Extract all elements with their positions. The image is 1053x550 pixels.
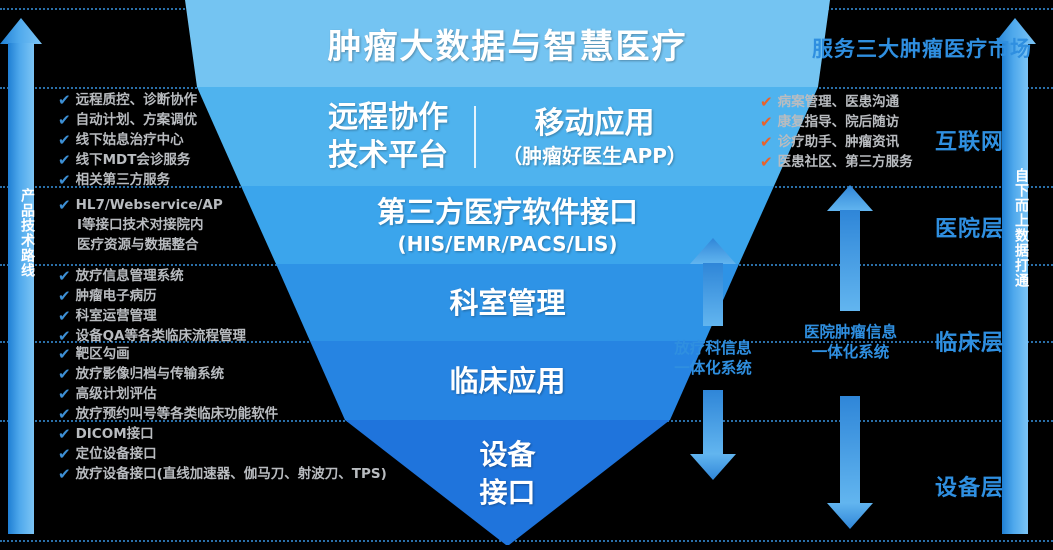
arrow-head-down-icon [827,503,873,529]
bullet-group-hospital: ✔HL7/Webservice/AP I等接口技术对接院内 医疗资源与数据整合 [58,196,223,256]
list-item-text: 康复指导、院后随访 [778,113,900,132]
list-item-text: 科室运营管理 [76,307,157,326]
mobile-app-line1: 移动应用 [534,106,654,141]
third-party-interface-label: 第三方医疗软件接口 (HIS/EMR/PACS/LIS) [377,193,638,257]
bullet-group-internet: ✔远程质控、诊断协作 ✔自动计划、方案调优 ✔线下姑息治疗中心 ✔线下MDT会诊… [58,91,197,191]
list-item-text: 放疗影像归档与传输系统 [76,365,225,384]
check-icon: ✔ [58,151,71,169]
list-item-text: 病案管理、医患沟通 [778,93,900,112]
list-item: ✔放疗影像归档与传输系统 [58,365,278,384]
list-item-text: 线下MDT会诊服务 [76,151,191,170]
vertical-divider [474,106,476,168]
list-item-text: 医患社区、第三方服务 [778,153,913,172]
list-item-text: 放疗信息管理系统 [76,267,184,286]
arrow-head-down-icon [690,454,736,480]
collab-platform-label: 远程协作 技术平台 [328,99,448,175]
list-item-text: 自动计划、方案调优 [76,111,198,130]
list-item-text: 相关第三方服务 [76,171,171,190]
list-item-text: HL7/Webservice/AP [76,196,223,215]
arrow-shaft-upper [840,210,860,311]
device-line2: 接口 [479,476,535,509]
list-item: ✔远程质控、诊断协作 [58,91,197,110]
list-item: ✔放疗预约叫号等各类临床功能软件 [58,405,278,424]
list-item-text: 放疗设备接口(直线加速器、伽马刀、射波刀、TPS) [76,465,387,484]
list-item: ✔诊疗助手、肿瘤资讯 [760,133,913,152]
list-item: ✔靶区勾画 [58,345,278,364]
bullet-group-device: ✔DICOM接口 ✔定位设备接口 ✔放疗设备接口(直线加速器、伽马刀、射波刀、T… [58,425,387,485]
list-item: ✔定位设备接口 [58,445,387,464]
tier-label-hospital: 医院层 [935,211,1004,243]
arrow-head-up-icon [690,238,736,264]
list-item: ✔相关第三方服务 [58,171,197,190]
check-icon: ✔ [58,385,71,403]
interface-line1: 第三方医疗软件接口 [377,195,638,229]
list-item: ✔高级计划评估 [58,385,278,404]
list-item-text: 肿瘤电子病历 [76,287,157,306]
check-icon: ✔ [760,93,773,111]
check-icon: ✔ [58,405,71,423]
list-item-text: 靶区勾画 [76,345,130,364]
list-item: ✔设备QA等各类临床流程管理 [58,327,246,346]
department-mgmt-label: 科室管理 [449,284,565,322]
arrow-shaft-upper [703,263,723,326]
list-item: ✔放疗设备接口(直线加速器、伽马刀、射波刀、TPS) [58,465,387,484]
device-line1: 设备 [479,438,535,471]
list-item-text: DICOM接口 [76,425,154,444]
left-band-label: 产品技术路线 [8,188,34,278]
right-band-label: 自下而上数据打通 [1002,168,1028,288]
left-arrow-shaft [8,43,34,534]
collab-line1: 远程协作 [328,100,448,135]
list-item: ✔康复指导、院后随访 [760,113,913,132]
list-item-text: 线下姑息治疗中心 [76,131,184,150]
tier-label-internet: 互联网 [935,124,1004,156]
pyramid-band-title: 肿瘤大数据与智慧医疗 [185,0,830,87]
arrow-radiotherapy-caption: 放疗科信息 一体化系统 [645,338,781,378]
list-item: ✔线下MDT会诊服务 [58,151,197,170]
check-icon: ✔ [58,465,71,483]
list-item-continuation: 医疗资源与数据整合 [58,236,223,255]
mobile-app-label: 移动应用 （肿瘤好医生APP） [502,105,687,169]
arrow-head-up-icon [827,185,873,211]
list-item-text: 放疗预约叫号等各类临床功能软件 [76,405,279,424]
list-item: ✔医患社区、第三方服务 [760,153,913,172]
device-interface-label: 设备 接口 [479,436,535,512]
list-item-text: 远程质控、诊断协作 [76,91,198,110]
list-item-text: 医疗资源与数据整合 [77,236,199,255]
list-item: ✔科室运营管理 [58,307,246,326]
check-icon: ✔ [58,131,71,149]
list-item: ✔线下姑息治疗中心 [58,131,197,150]
interface-line2: (HIS/EMR/PACS/LIS) [397,232,617,256]
caption-line2: 一体化系统 [812,343,890,361]
check-icon: ✔ [760,153,773,171]
header-right-title: 服务三大肿瘤医疗市场 [812,33,1032,63]
list-item: ✔病案管理、医患沟通 [760,93,913,112]
check-icon: ✔ [58,425,71,443]
caption-line1: 放疗科信息 [674,339,752,357]
left-arrow-band: 产品技术路线 [8,18,34,534]
right-arrow-shaft [1002,43,1028,534]
list-item-text: I等接口技术对接院内 [77,216,204,235]
list-item: ✔DICOM接口 [58,425,387,444]
collab-line2: 技术平台 [328,138,448,173]
bullet-group-clinical: ✔靶区勾画 ✔放疗影像归档与传输系统 ✔高级计划评估 ✔放疗预约叫号等各类临床功… [58,345,278,425]
left-arrow-head-icon [0,18,42,44]
mobile-app-line2: （肿瘤好医生APP） [502,144,687,168]
check-icon: ✔ [58,111,71,129]
clinical-app-label: 临床应用 [449,362,565,400]
check-icon: ✔ [58,327,71,345]
list-item-continuation: I等接口技术对接院内 [58,216,223,235]
list-item: ✔放疗信息管理系统 [58,267,246,286]
check-icon: ✔ [58,307,71,325]
caption-line2: 一体化系统 [674,359,752,377]
infographic-canvas: 肿瘤大数据与智慧医疗 远程协作 技术平台 移动应用 （肿瘤好医生APP） 第三方… [0,0,1053,550]
list-item-text: 高级计划评估 [76,385,157,404]
check-icon: ✔ [58,196,71,214]
tier-label-clinical: 临床层 [935,325,1004,357]
bullet-group-department: ✔放疗信息管理系统 ✔肿瘤电子病历 ✔科室运营管理 ✔设备QA等各类临床流程管理 [58,267,246,347]
check-icon: ✔ [58,91,71,109]
list-item: ✔肿瘤电子病历 [58,287,246,306]
check-icon: ✔ [760,133,773,151]
list-item-text: 定位设备接口 [76,445,157,464]
bullet-group-internet-right: ✔病案管理、医患沟通 ✔康复指导、院后随访 ✔诊疗助手、肿瘤资讯 ✔医患社区、第… [760,93,913,173]
check-icon: ✔ [58,445,71,463]
check-icon: ✔ [58,345,71,363]
arrow-hospital-oncology-caption: 医院肿瘤信息 一体化系统 [778,322,923,362]
caption-line1: 医院肿瘤信息 [804,323,897,341]
list-item: ✔自动计划、方案调优 [58,111,197,130]
check-icon: ✔ [58,267,71,285]
list-item-text: 设备QA等各类临床流程管理 [76,327,246,346]
page-title: 肿瘤大数据与智慧医疗 [328,19,688,68]
right-arrow-band: 自下而上数据打通 [1002,18,1028,534]
arrow-shaft-lower [703,390,723,454]
check-icon: ✔ [58,287,71,305]
check-icon: ✔ [58,365,71,383]
pyramid-band-collab: 远程协作 技术平台 移动应用 （肿瘤好医生APP） [185,87,830,186]
check-icon: ✔ [58,171,71,189]
tier-label-device: 设备层 [935,470,1004,502]
list-item: ✔HL7/Webservice/AP [58,196,223,215]
arrow-shaft-lower [840,396,860,503]
check-icon: ✔ [760,113,773,131]
list-item-text: 诊疗助手、肿瘤资讯 [778,133,900,152]
